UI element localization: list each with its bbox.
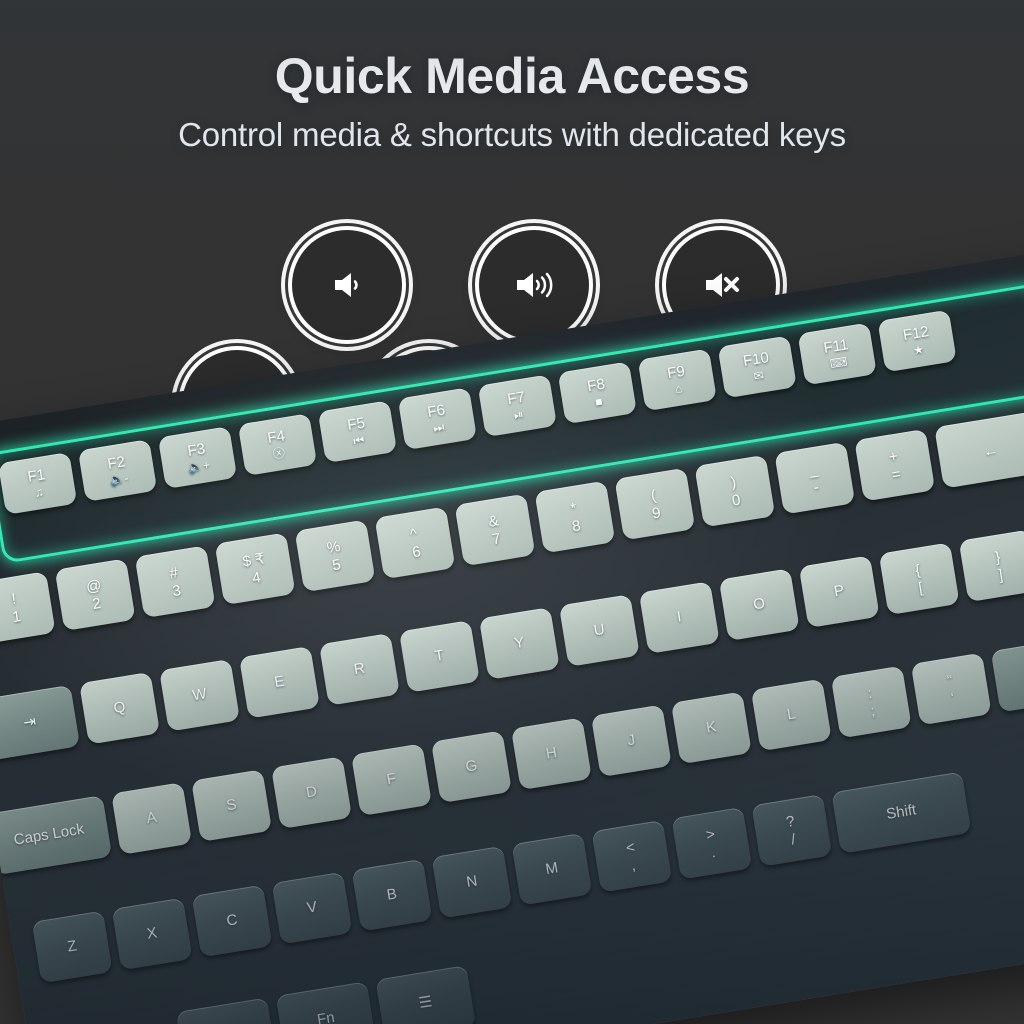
key-upper-label: * (569, 500, 577, 516)
key-label: Caps Lock (13, 822, 85, 849)
key-lower-label: 1 (11, 608, 22, 624)
music-note-icon: ♫ (34, 485, 45, 499)
key-d[interactable]: D (271, 756, 352, 829)
key-3[interactable]: #3 (135, 545, 216, 618)
volume-up-button[interactable] (475, 226, 593, 344)
key--[interactable]: <, (591, 820, 672, 893)
key-lower-label: 0 (731, 492, 742, 508)
key-label: F6 (426, 402, 446, 420)
key-label: B (386, 887, 398, 904)
key-lower-label: ← (982, 443, 999, 460)
home-icon: ⌂ (674, 382, 683, 396)
key-label: S (225, 797, 237, 814)
volume-up-icon: 🔈+ (187, 458, 211, 474)
key-x[interactable]: X (112, 898, 193, 971)
key-label: G (464, 758, 478, 775)
key-lower-label: 7 (491, 531, 502, 547)
key-label: M (544, 860, 559, 878)
key-p[interactable]: P (799, 555, 880, 628)
key-upper-label: > (705, 826, 716, 842)
key-lower-label: 6 (411, 544, 422, 560)
key-lower-label: 2 (91, 596, 102, 612)
key-upper-label: _ (808, 461, 819, 477)
key-lower-label: 5 (331, 557, 342, 573)
key-k[interactable]: K (671, 692, 752, 765)
key-lower-label: [ (917, 580, 924, 595)
key-h[interactable]: H (511, 717, 592, 790)
key-upper-label: # (168, 565, 179, 581)
key-upper-label: ( (650, 487, 657, 503)
key-s[interactable]: S (191, 769, 272, 842)
key-label: A (145, 810, 157, 827)
key-upper-label: @ (85, 577, 102, 594)
key-1[interactable]: !1 (0, 571, 56, 644)
key--[interactable]: _- (774, 442, 855, 515)
key-lower-label: 4 (251, 570, 262, 586)
key-f[interactable]: F (351, 743, 432, 816)
key-label: Y (513, 635, 525, 652)
key-lower-label: ; (869, 703, 876, 718)
key-upper-label: { (914, 562, 921, 578)
key-label: K (705, 719, 717, 736)
key-u[interactable]: U (559, 594, 640, 667)
key-2[interactable]: @2 (55, 558, 136, 631)
key-label: ⇥ (22, 714, 37, 732)
stop-icon: ■ (594, 395, 603, 409)
key-i[interactable]: I (639, 581, 720, 654)
key--[interactable]: >. (671, 807, 752, 880)
key-b[interactable]: B (351, 859, 432, 932)
next-icon: ⏭ (432, 420, 445, 434)
key-label: F1 (27, 467, 47, 485)
key-label: T (434, 648, 446, 665)
key-9[interactable]: (9 (614, 468, 695, 541)
key-label: F3 (186, 441, 206, 459)
key-8[interactable]: *8 (534, 481, 615, 554)
key-z[interactable]: Z (32, 911, 113, 984)
key-label: F9 (666, 363, 686, 381)
mail-icon: ✉ (753, 369, 765, 383)
play-pause-icon: ⏯ (513, 408, 524, 422)
star-icon: ★ (912, 343, 925, 357)
page-title: Quick Media Access (0, 0, 1024, 103)
key-4[interactable]: $ ₹4 (215, 532, 296, 605)
key-g[interactable]: G (431, 730, 512, 803)
key-label: F12 (902, 324, 930, 344)
key-label: F10 (742, 350, 770, 370)
key-label: V (306, 899, 318, 916)
headline-block: Quick Media Access Control media & short… (0, 0, 1024, 154)
key-label: F5 (346, 415, 366, 433)
computer-icon: ⌨ (829, 355, 848, 370)
key-lower-label: ‘ (950, 690, 956, 705)
key-label: N (465, 874, 478, 891)
key-y[interactable]: Y (479, 607, 560, 680)
product-feature-image: Quick Media Access Control media & short… (0, 0, 1024, 1024)
key-lower-label: 3 (171, 583, 182, 599)
volume-down-icon: 🔈- (109, 472, 130, 487)
key-label: F (386, 771, 398, 788)
key-lower-label: 8 (571, 518, 582, 534)
key-label: F8 (586, 376, 606, 394)
key--[interactable]: :; (831, 666, 912, 739)
key-lower-label: . (710, 844, 717, 859)
key-lower-label: - (813, 479, 820, 495)
key-upper-label: $ ₹ (242, 551, 266, 569)
key-label: O (752, 596, 766, 613)
key-label: R (353, 661, 366, 678)
key-label: L (786, 706, 797, 723)
key-c[interactable]: C (192, 885, 273, 958)
key-label: ☰ (418, 994, 434, 1012)
key-label: J (626, 732, 636, 749)
key-t[interactable]: T (399, 620, 480, 693)
key-0[interactable]: )0 (694, 455, 775, 528)
key-5[interactable]: %5 (295, 519, 376, 592)
key-n[interactable]: N (431, 846, 512, 919)
speaker-low-icon (325, 263, 369, 307)
key-label: W (191, 686, 208, 704)
key-upper-label: ! (10, 591, 17, 606)
key-l[interactable]: L (751, 679, 832, 752)
key--[interactable]: ?/ (751, 794, 832, 867)
key--[interactable]: }] (959, 529, 1024, 602)
key-j[interactable]: J (591, 704, 672, 777)
key--[interactable]: += (854, 429, 935, 502)
key-upper-label: & (487, 513, 499, 529)
key-label: P (833, 583, 845, 600)
key-label: F4 (266, 428, 286, 446)
key-label: Q (113, 700, 127, 717)
key-m[interactable]: M (511, 833, 592, 906)
key-label: E (273, 674, 285, 691)
key-o[interactable]: O (719, 568, 800, 641)
volume-down-button[interactable] (288, 226, 406, 344)
key-label: U (593, 622, 606, 639)
speaker-high-icon (510, 263, 558, 307)
key-label: Z (66, 938, 78, 955)
key-a[interactable]: A (111, 782, 192, 855)
key-label: I (676, 609, 683, 625)
key-lower-label: = (891, 466, 902, 482)
key-upper-label: + (888, 448, 899, 464)
key-label: C (225, 912, 238, 929)
key-lower-label: / (790, 831, 797, 846)
key--[interactable]: “‘ (911, 653, 992, 726)
key-label: X (146, 925, 158, 942)
key-e[interactable]: E (239, 646, 320, 719)
mute-icon: ⓧ (272, 446, 286, 460)
page-subtitle: Control media & shortcuts with dedicated… (0, 103, 1024, 154)
key-upper-label: ? (785, 813, 796, 829)
key--[interactable]: {[ (879, 542, 960, 615)
key-label: Shift (885, 802, 917, 822)
key-6[interactable]: ^6 (374, 507, 455, 580)
key-label: Fn (316, 1010, 336, 1024)
key-upper-label: < (625, 839, 636, 855)
key-q[interactable]: Q (79, 672, 160, 745)
key-lower-label: 9 (651, 505, 662, 521)
key-upper-label: ) (730, 474, 737, 490)
key-upper-label: “ (946, 672, 953, 688)
key-upper-label: } (994, 549, 1001, 565)
key-lower-label: , (630, 857, 637, 872)
key-label: F7 (506, 389, 526, 407)
key-upper-label: : (867, 685, 874, 700)
key-r[interactable]: R (319, 633, 400, 706)
previous-icon: ⏮ (353, 433, 366, 447)
key-upper-label: ^ (409, 526, 418, 542)
key-label: F2 (106, 454, 126, 472)
key-w[interactable]: W (159, 659, 240, 732)
key-v[interactable]: V (272, 872, 353, 945)
key-label: H (545, 745, 558, 762)
key-upper-label: % (326, 538, 342, 555)
key-7[interactable]: &7 (454, 494, 535, 567)
key-lower-label: ] (997, 567, 1004, 582)
key-label: D (305, 784, 318, 801)
